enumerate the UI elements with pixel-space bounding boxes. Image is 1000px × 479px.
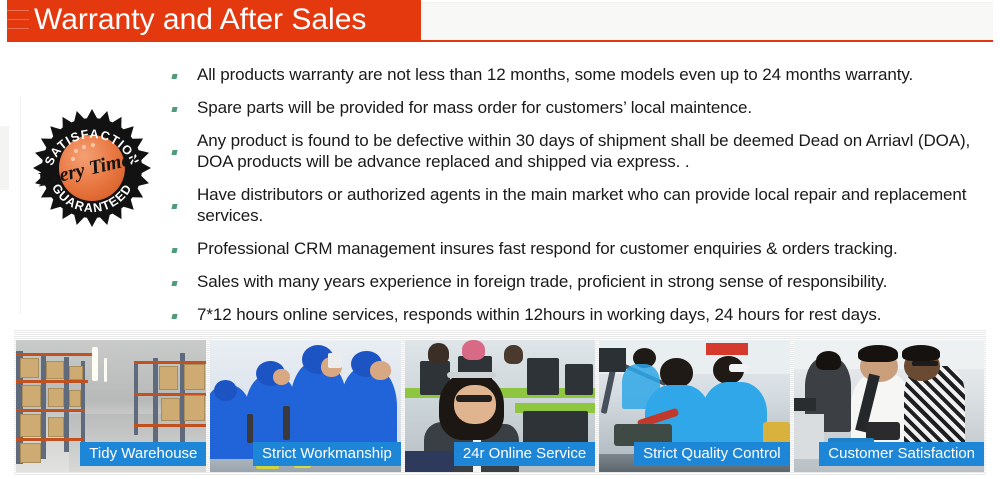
list-item-text: Any product is found to be defective wit… bbox=[197, 130, 986, 172]
bullet-marker-icon bbox=[171, 107, 177, 112]
gallery-photo-strict-workmanship[interactable]: Strict Workmanship bbox=[210, 340, 400, 472]
photo-caption: Tidy Warehouse bbox=[80, 442, 206, 466]
gallery-photo-online-service[interactable]: 24r Online Service bbox=[405, 340, 595, 472]
list-item-text: Professional CRM management insures fast… bbox=[197, 238, 986, 259]
list-item-text: All products warranty are not less than … bbox=[197, 64, 986, 85]
list-item: Sales with many years experience in fore… bbox=[172, 271, 986, 292]
panel-divider-vertical bbox=[20, 96, 21, 314]
warranty-bullet-list: All products warranty are not less than … bbox=[172, 64, 986, 337]
photo-caption: Customer Satisfaction bbox=[819, 442, 984, 466]
bullet-marker-icon bbox=[171, 281, 177, 286]
list-item-text: Have distributors or authorized agents i… bbox=[197, 184, 986, 226]
list-item: Professional CRM management insures fast… bbox=[172, 238, 986, 259]
header-underline bbox=[7, 40, 993, 42]
page-title: Warranty and After Sales bbox=[34, 2, 414, 40]
photo-caption: Strict Workmanship bbox=[253, 442, 401, 466]
photo-gallery: Tidy Warehouse Strict Workmanship bbox=[16, 340, 984, 472]
gallery-photo-tidy-warehouse[interactable]: Tidy Warehouse bbox=[16, 340, 206, 472]
list-item-text: Sales with many years experience in fore… bbox=[197, 271, 986, 292]
bullet-marker-icon bbox=[171, 204, 177, 209]
list-item-text: Spare parts will be provided for mass or… bbox=[197, 97, 986, 118]
seal-icon: SATISFACTION GUARANTEED Every Time! bbox=[31, 109, 153, 227]
page-header: Warranty and After Sales bbox=[0, 0, 1000, 44]
bullet-marker-icon bbox=[171, 74, 177, 79]
list-item: All products warranty are not less than … bbox=[172, 64, 986, 85]
header-right-fill bbox=[420, 2, 993, 41]
list-item: Spare parts will be provided for mass or… bbox=[172, 97, 986, 118]
bullet-marker-icon bbox=[171, 150, 177, 155]
bullet-marker-icon bbox=[171, 248, 177, 253]
gallery-photo-customer-satisfaction[interactable]: Customer Satisfaction bbox=[794, 340, 984, 472]
gallery-photo-quality-control[interactable]: Strict Quality Control bbox=[599, 340, 789, 472]
list-item: Have distributors or authorized agents i… bbox=[172, 184, 986, 226]
photo-caption: 24r Online Service bbox=[454, 442, 595, 466]
list-item-text: 7*12 hours online services, responds wit… bbox=[197, 304, 986, 325]
photo-caption: Strict Quality Control bbox=[634, 442, 790, 466]
satisfaction-guaranteed-badge: SATISFACTION GUARANTEED Every Time! bbox=[31, 109, 153, 227]
list-item: 7*12 hours online services, responds wit… bbox=[172, 304, 986, 325]
panel-edge-left bbox=[0, 126, 9, 190]
bullet-marker-icon bbox=[171, 314, 177, 319]
list-item: Any product is found to be defective wit… bbox=[172, 130, 986, 172]
